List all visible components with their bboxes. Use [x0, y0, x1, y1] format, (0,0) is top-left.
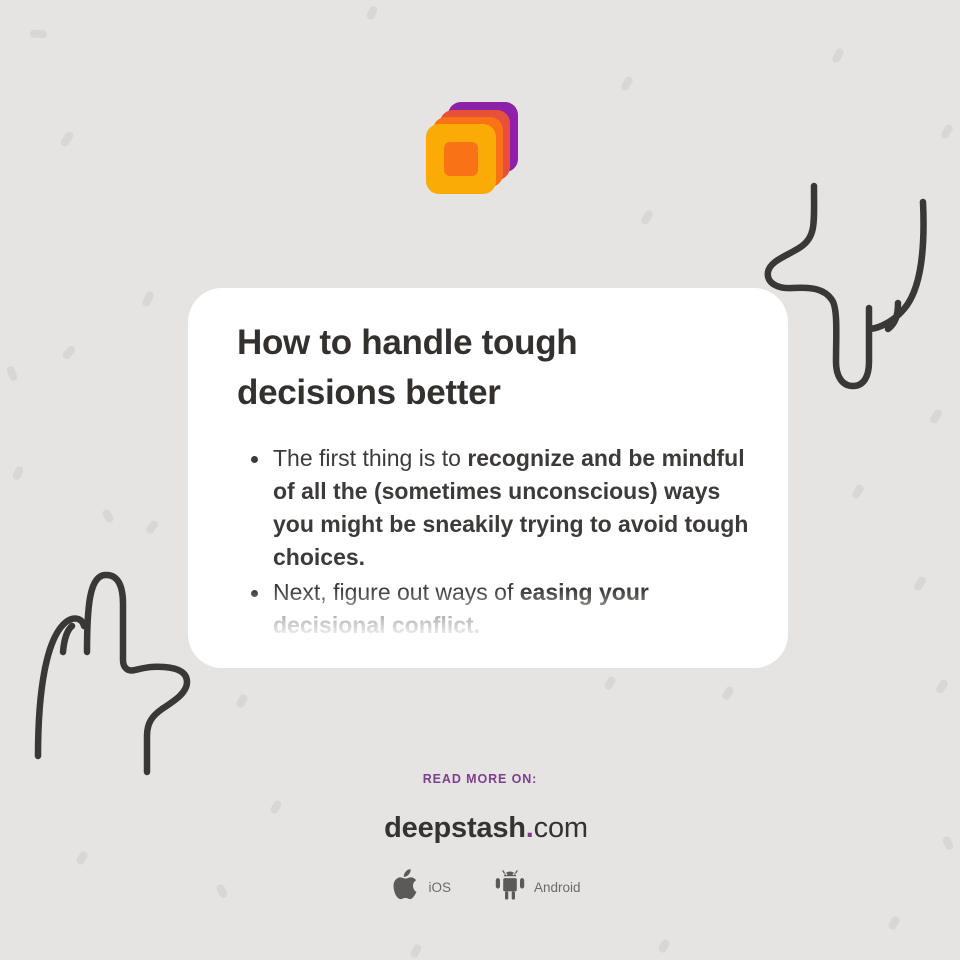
brand-tld: com [534, 812, 588, 844]
brand-dot: . [526, 812, 534, 844]
list-item: Next, figure out ways of easing your dec… [237, 576, 752, 642]
social-share-card-canvas: How to handle tough decisions better The… [0, 0, 960, 960]
pointing-up-hand-icon [24, 560, 204, 785]
android-app-badge[interactable]: Android [495, 869, 581, 905]
idea-card-content: How to handle tough decisions better The… [188, 288, 788, 668]
app-store-badges: iOS [0, 869, 960, 905]
list-item: The first thing is to recognize and be m… [237, 442, 752, 574]
bullet-lead-text: The first thing is to [273, 445, 467, 471]
brand-wordmark[interactable]: deepstash.com [0, 812, 960, 845]
read-more-label: READ MORE ON: [0, 772, 960, 786]
deepstash-logo [425, 100, 520, 195]
bullet-lead-text: Next, figure out ways of [273, 579, 520, 605]
apple-icon [393, 869, 419, 905]
idea-bullet-list: The first thing is to recognize and be m… [237, 442, 752, 642]
brand-name: deepstash [384, 812, 526, 844]
android-icon [495, 869, 525, 905]
footer: READ MORE ON: deepstash.com iOS [0, 762, 960, 905]
ios-app-badge[interactable]: iOS [393, 869, 451, 905]
ios-label: iOS [428, 880, 451, 895]
idea-card: How to handle tough decisions better The… [188, 288, 788, 668]
page-title: How to handle tough decisions better [237, 318, 637, 418]
android-label: Android [534, 880, 581, 895]
